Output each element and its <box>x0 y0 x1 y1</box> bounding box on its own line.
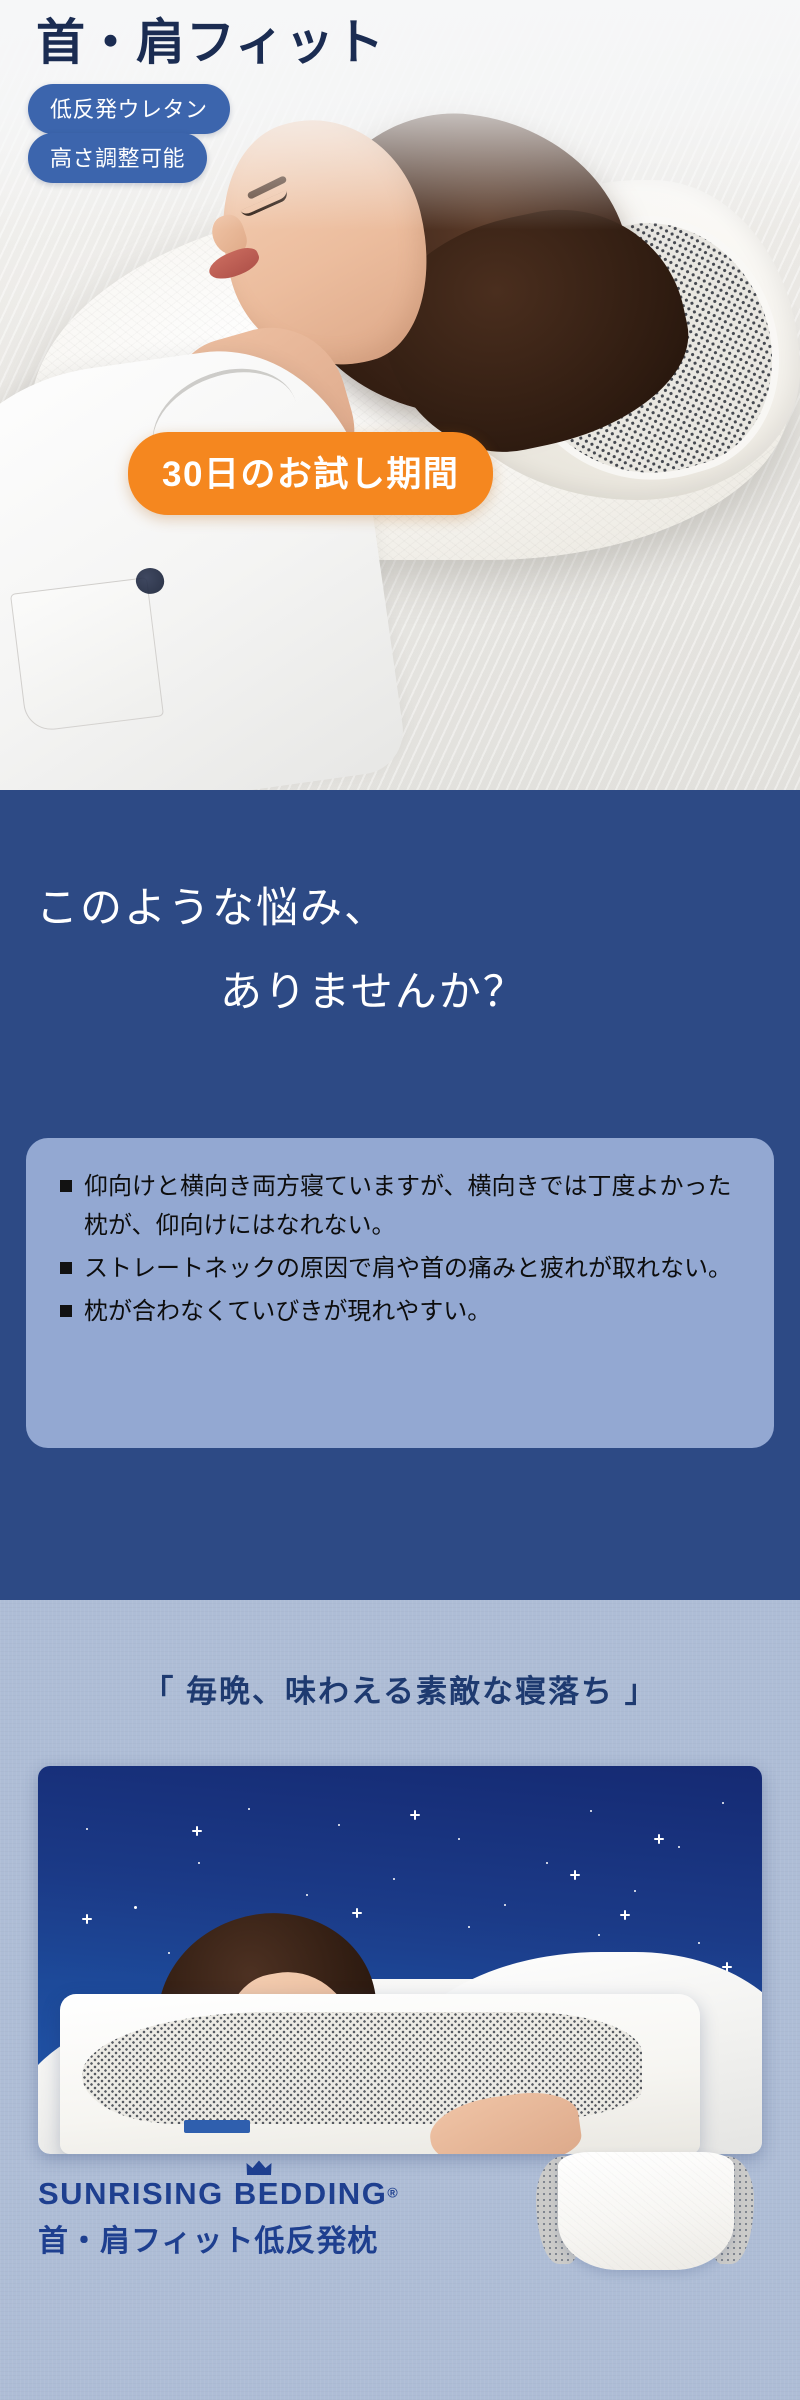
brand-name: SUNRISING BEDDING <box>38 2176 387 2212</box>
quote-brand-section: 「 毎晩、味わえる素敵な寝落ち 」 <box>0 1600 800 2400</box>
problem-section: このような悩み、 ありませんか？ 仰向けと横向き両方寝ていますが、横向きでは丁度… <box>0 790 800 1600</box>
hero-section: 首・肩フィット 低反発ウレタン 高さ調整可能 30日のお試し期間 <box>0 0 800 790</box>
bullet-square-icon <box>60 1305 72 1317</box>
list-item: ストレートネックの原因で肩や首の痛みと疲れが取れない。 <box>60 1250 740 1289</box>
list-item-label: ストレートネックの原因で肩や首の痛みと疲れが取れない。 <box>84 1250 740 1289</box>
product-foam-core <box>558 2152 734 2270</box>
product-landing-page: 首・肩フィット 低反発ウレタン 高さ調整可能 30日のお試し期間 このような悩み… <box>0 0 800 2400</box>
list-item-label: 仰向けと横向き両方寝ていますが、横向きでは丁度よかった枕が、仰向けにはなれない。 <box>84 1168 740 1246</box>
list-item: 枕が合わなくていびきが現れやすい。 <box>60 1293 740 1332</box>
feature-badge-memory-foam: 低反発ウレタン <box>28 84 230 134</box>
list-item: 仰向けと横向き両方寝ていますが、横向きでは丁度よかった枕が、仰向けにはなれない。 <box>60 1168 740 1246</box>
bullet-square-icon <box>60 1262 72 1274</box>
bullet-square-icon <box>60 1180 72 1192</box>
shirt-pocket <box>10 577 164 733</box>
quote-headline: 「 毎晩、味わえる素敵な寝落ち 」 <box>0 1666 800 1711</box>
page-title: 首・肩フィット <box>36 16 385 71</box>
product-thumbnail <box>534 2152 756 2270</box>
list-item-label: 枕が合わなくていびきが現れやすい。 <box>84 1293 740 1332</box>
problem-heading-line-1: このような悩み、 <box>36 874 388 935</box>
trial-period-banner[interactable]: 30日のお試し期間 <box>128 432 493 515</box>
feature-badge-height-adjustable: 高さ調整可能 <box>28 133 207 183</box>
night-sleep-photo <box>38 1766 762 2154</box>
pillow-brand-tag <box>184 2120 250 2133</box>
problem-list-box: 仰向けと横向き両方寝ていますが、横向きでは丁度よかった枕が、仰向けにはなれない。… <box>26 1138 774 1448</box>
problem-heading-line-2: ありませんか？ <box>220 958 527 1019</box>
registered-trademark-symbol: ® <box>387 2185 397 2201</box>
crown-icon <box>246 2160 272 2176</box>
